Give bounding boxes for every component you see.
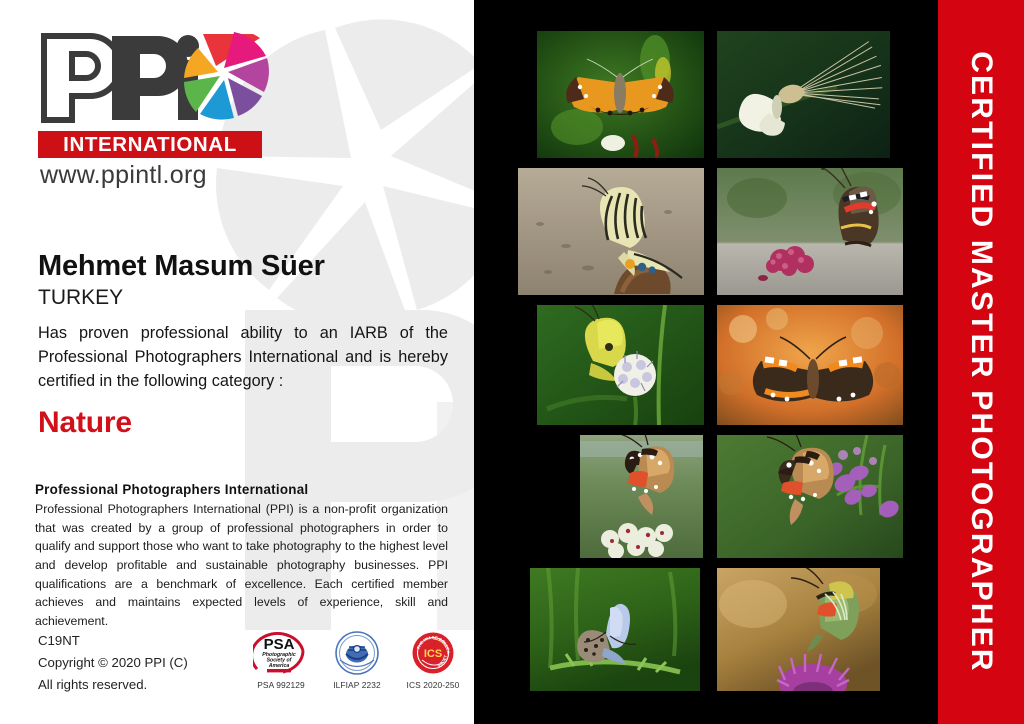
svg-text:ICS: ICS <box>424 648 442 660</box>
svg-text:PSA: PSA <box>264 636 295 653</box>
recipient-name: Mehmet Masum Süer <box>38 250 458 282</box>
seal-caption: ILFIAP 2232 <box>326 680 388 690</box>
logo-url: www.ppintl.org <box>40 161 272 190</box>
ppi-logo-mark: INTERNATIONAL www.ppintl.org <box>38 30 270 126</box>
certification-statement: Has proven professional ability to an IA… <box>38 322 448 393</box>
gallery-photo[interactable] <box>537 31 704 158</box>
recipient-block: Mehmet Masum Süer TURKEY <box>38 250 458 311</box>
seal-caption: ICS 2020-250 <box>402 680 464 690</box>
about-body: Professional Photographers International… <box>35 500 448 631</box>
copyright-line: Copyright © 2020 PPI (C) <box>38 652 188 674</box>
ics-seal-icon: THE IMAGE COLLEAGUE SOCIETY ICS <box>402 628 464 678</box>
gallery-photo[interactable] <box>530 568 700 691</box>
seal-ics: THE IMAGE COLLEAGUE SOCIETY ICS ICS 2020… <box>402 628 464 690</box>
recipient-country: TURKEY <box>38 285 458 310</box>
ppi-logo: INTERNATIONAL www.ppintl.org <box>38 30 270 195</box>
certificate-page: INTERNATIONAL www.ppintl.org Mehmet Masu… <box>0 0 1024 724</box>
gallery-photo[interactable] <box>717 435 903 558</box>
certification-banner: CERTIFIED MASTER PHOTOGRAPHER <box>938 0 1024 724</box>
ilfiap-seal-icon <box>326 628 388 678</box>
certificate-id: C19NT <box>38 630 188 652</box>
certificate-left-panel: INTERNATIONAL www.ppintl.org Mehmet Masu… <box>0 0 474 724</box>
about-title: Professional Photographers International <box>35 482 448 497</box>
rights-line: All rights reserved. <box>38 674 188 696</box>
gallery-photo[interactable] <box>717 305 903 425</box>
accreditation-seals: PSA Photographic Society of America PSA … <box>250 628 464 690</box>
gallery-photo[interactable] <box>518 168 704 295</box>
seal-ilfiap: ILFIAP 2232 <box>326 628 388 690</box>
gallery-photo[interactable] <box>580 435 703 558</box>
logo-international-bar: INTERNATIONAL <box>38 131 262 158</box>
banner-title: CERTIFIED MASTER PHOTOGRAPHER <box>964 51 998 673</box>
gallery-photo[interactable] <box>717 568 880 691</box>
seal-psa: PSA Photographic Society of America PSA … <box>250 628 312 690</box>
gallery-photo[interactable] <box>717 168 903 295</box>
ppi-wordmark-icon <box>38 30 270 126</box>
gallery-photo[interactable] <box>537 305 704 425</box>
photo-gallery <box>474 0 938 724</box>
svg-text:America: America <box>268 663 290 669</box>
about-block: Professional Photographers International… <box>35 482 448 631</box>
footer-text: C19NT Copyright © 2020 PPI (C) All right… <box>38 630 188 695</box>
seal-caption: PSA 992129 <box>250 680 312 690</box>
psa-seal-icon: PSA Photographic Society of America <box>250 628 312 678</box>
category-name: Nature <box>38 406 132 440</box>
gallery-photo[interactable] <box>717 31 890 158</box>
